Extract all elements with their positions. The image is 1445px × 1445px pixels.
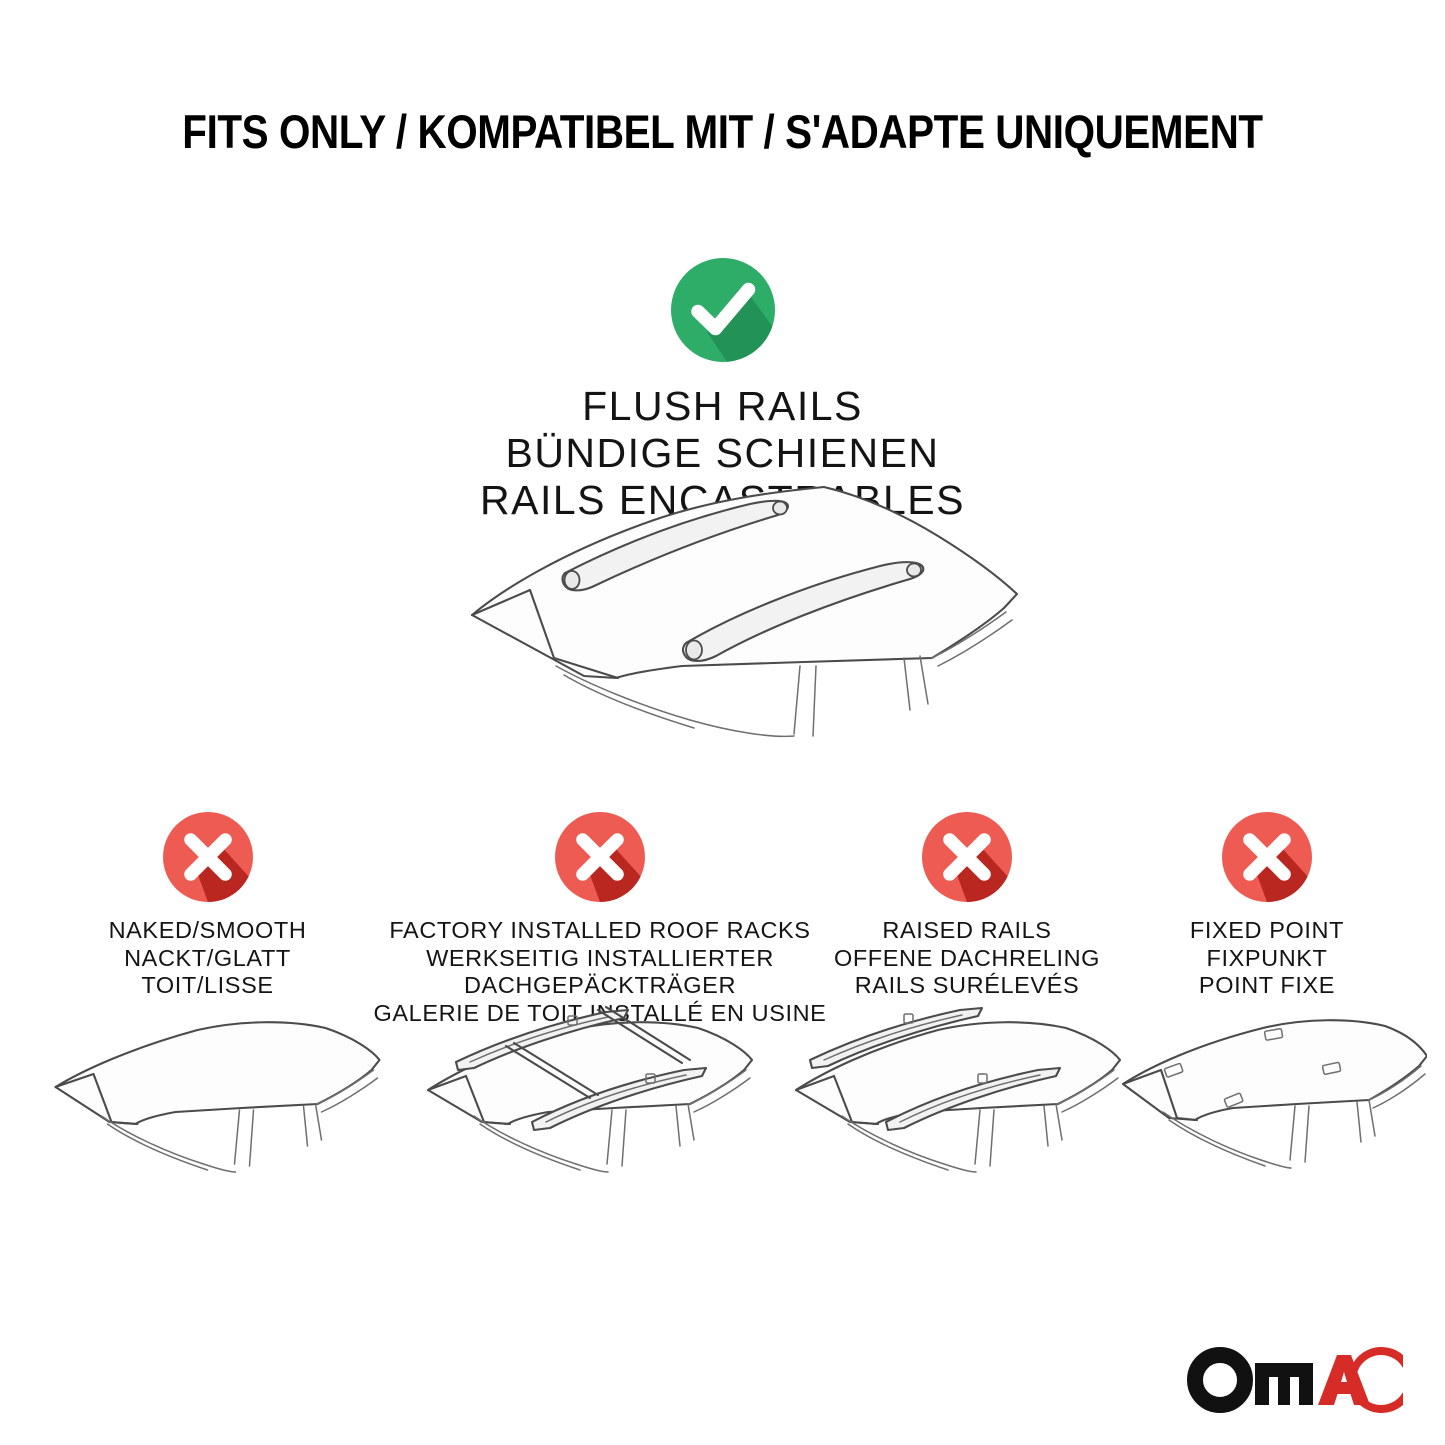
label-en: NAKED/SMOOTH	[35, 917, 380, 945]
label-en: FIXED POINT	[1122, 917, 1412, 945]
x-circle-icon	[922, 812, 1012, 907]
label-en: RAISED RAILS	[812, 917, 1122, 945]
label-de: OFFENE DACHRELING	[812, 945, 1122, 973]
label-fr: RAILS SURÉLEVÉS	[812, 972, 1122, 1000]
incompatible-column-fixed-point: FIXED POINT FIXPUNKT POINT FIXE	[1122, 812, 1412, 1000]
x-circle-icon	[1222, 812, 1312, 907]
car-roof-with-flush-rails-illustration	[432, 470, 1032, 770]
car-roof-naked-smooth-illustration	[35, 1012, 380, 1232]
label-de: NACKT/GLATT	[35, 945, 380, 973]
page-title: FITS ONLY / KOMPATIBEL MIT / S'ADAPTE UN…	[101, 104, 1344, 159]
label-de: FIXPUNKT	[1122, 945, 1412, 973]
label-de-1: WERKSEITIG INSTALLIERTER	[370, 945, 830, 973]
x-circle-icon	[555, 812, 645, 907]
car-roof-fixed-point-illustration	[1107, 1012, 1427, 1227]
check-circle-icon	[671, 258, 775, 362]
incompatible-columns: NAKED/SMOOTH NACKT/GLATT TOIT/LISSE	[0, 812, 1445, 1252]
column-labels: FIXED POINT FIXPUNKT POINT FIXE	[1122, 917, 1412, 1000]
car-roof-factory-roof-rack-illustration	[410, 986, 790, 1231]
label-fr: TOIT/LISSE	[35, 972, 380, 1000]
car-roof-raised-rails-illustration	[782, 998, 1152, 1228]
compatible-label-en: FLUSH RAILS	[0, 383, 1445, 430]
x-circle-icon	[163, 812, 253, 907]
label-en: FACTORY INSTALLED ROOF RACKS	[370, 917, 830, 945]
infographic-page: FITS ONLY / KOMPATIBEL MIT / S'ADAPTE UN…	[0, 0, 1445, 1445]
column-labels: NAKED/SMOOTH NACKT/GLATT TOIT/LISSE	[35, 917, 380, 1000]
label-fr: POINT FIXE	[1122, 972, 1412, 1000]
column-labels: RAISED RAILS OFFENE DACHRELING RAILS SUR…	[812, 917, 1122, 1000]
incompatible-column-factory-roof-racks: FACTORY INSTALLED ROOF RACKS WERKSEITIG …	[370, 812, 830, 1027]
omac-logo	[1187, 1347, 1405, 1413]
incompatible-column-raised-rails: RAISED RAILS OFFENE DACHRELING RAILS SUR…	[812, 812, 1122, 1000]
incompatible-column-naked-smooth: NAKED/SMOOTH NACKT/GLATT TOIT/LISSE	[35, 812, 380, 1000]
